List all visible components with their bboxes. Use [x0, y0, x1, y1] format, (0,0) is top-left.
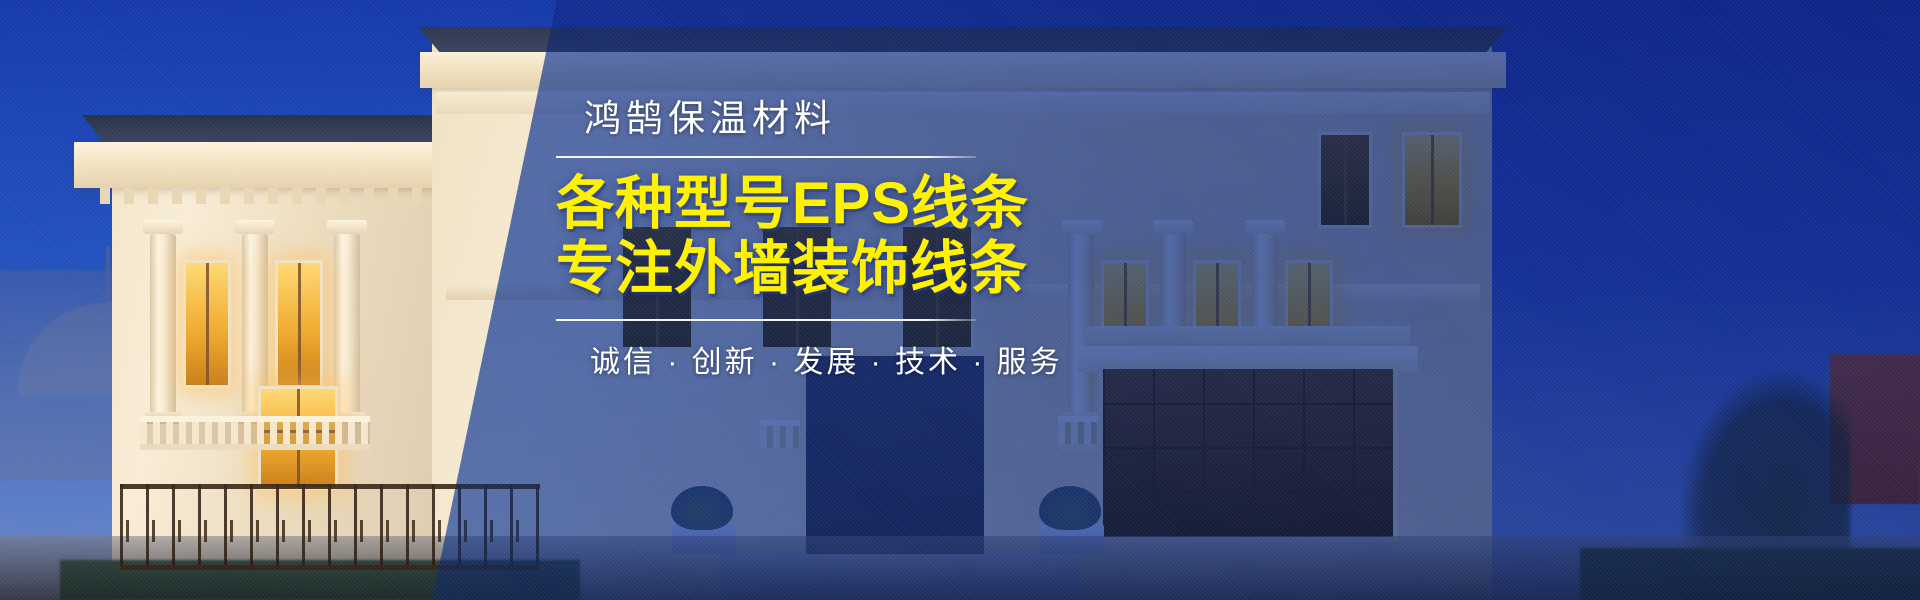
- window-lit: [275, 260, 323, 388]
- column-capital: [327, 220, 367, 234]
- column: [150, 234, 176, 414]
- tagline: 诚信 · 创新 · 发展 · 技术 · 服务: [590, 337, 1316, 381]
- headline-line-1: 各种型号EPS线条: [556, 172, 1316, 236]
- hero-banner: 鸿鹄保温材料 各种型号EPS线条 专注外墙装饰线条 诚信 · 创新 · 发展 ·…: [0, 0, 1920, 600]
- column-capital: [143, 220, 183, 234]
- window-mullion: [206, 263, 209, 385]
- brand-name: 鸿鹄保温材料: [584, 96, 1316, 142]
- balcony-balustrade: [140, 416, 370, 450]
- divider-top: [556, 156, 976, 158]
- left-dentil-molding: [100, 188, 460, 204]
- window-lit: [183, 260, 231, 388]
- window-mullion: [298, 263, 301, 385]
- left-wing-cornice: [74, 142, 484, 188]
- headline-line-2: 专注外墙装饰线条: [556, 237, 1316, 301]
- divider-bottom: [556, 319, 976, 321]
- column-capital: [235, 220, 275, 234]
- banner-copy-block: 鸿鹄保温材料 各种型号EPS线条 专注外墙装饰线条 诚信 · 创新 · 发展 ·…: [556, 96, 1316, 381]
- left-wing-roof: [82, 115, 474, 145]
